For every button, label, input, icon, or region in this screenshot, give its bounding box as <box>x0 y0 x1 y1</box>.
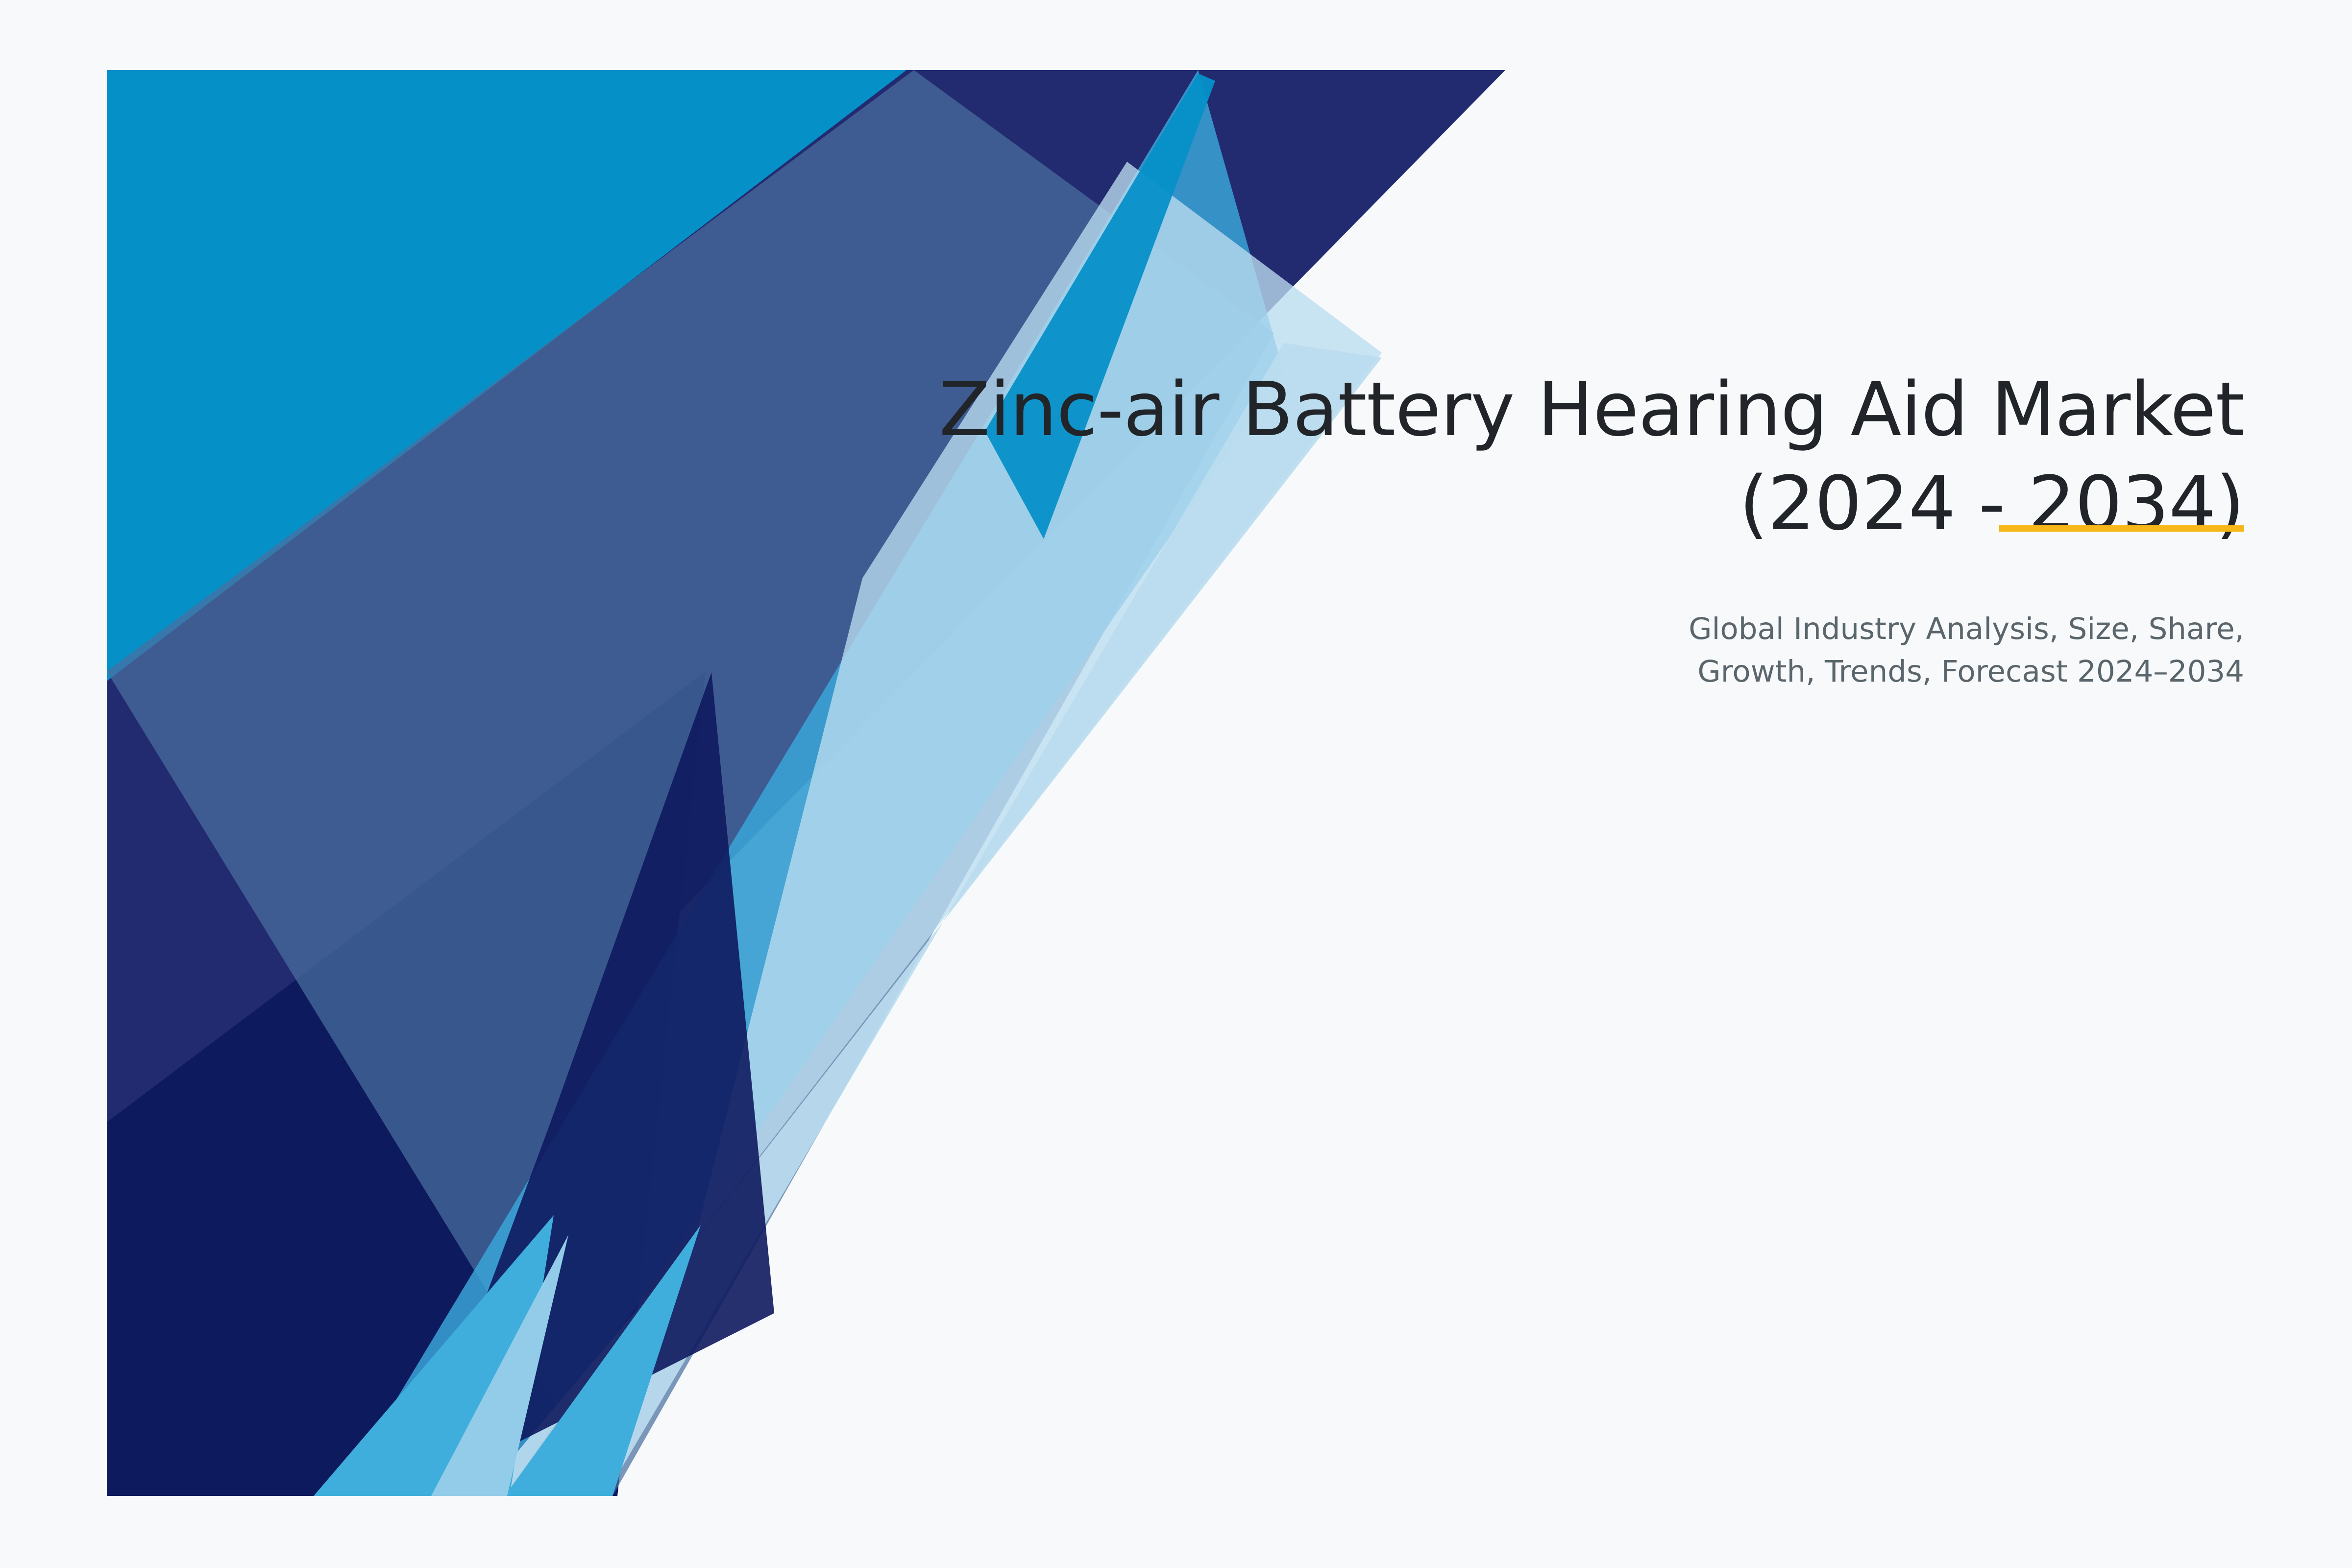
title-line-primary: Zinc-air Battery Hearing Aid Market <box>823 363 2244 457</box>
shape-deep-navy-bottom <box>107 671 706 1496</box>
slide-canvas: Zinc-air Battery Hearing Aid Market (202… <box>0 0 2352 1568</box>
shape-bottom-pale-wedge <box>431 1235 568 1496</box>
accent-underline-bar <box>1999 525 2244 532</box>
shape-bottom-cyan-left <box>314 1215 554 1496</box>
shape-navy-spike <box>412 672 774 1496</box>
page-title: Zinc-air Battery Hearing Aid Market (202… <box>823 363 2244 550</box>
shape-sky-blue-ribbon <box>338 70 1284 1496</box>
shape-navy-top <box>107 70 1505 1496</box>
page-subtitle: Global Industry Analysis, Size, Share, G… <box>1588 608 2244 693</box>
shape-pale-blue-wing <box>695 162 1382 1240</box>
shape-bottom-cyan-right <box>505 1225 701 1496</box>
cover-text-block: Zinc-air Battery Hearing Aid Market (202… <box>823 363 2244 693</box>
cover-artwork <box>0 0 2352 1568</box>
shape-cyan-base <box>107 70 1505 1496</box>
shape-steel-blue-panel <box>107 70 1274 1496</box>
title-line-period: (2024 - 2034) <box>823 457 2244 551</box>
abstract-polygon-svg <box>0 0 2352 1568</box>
